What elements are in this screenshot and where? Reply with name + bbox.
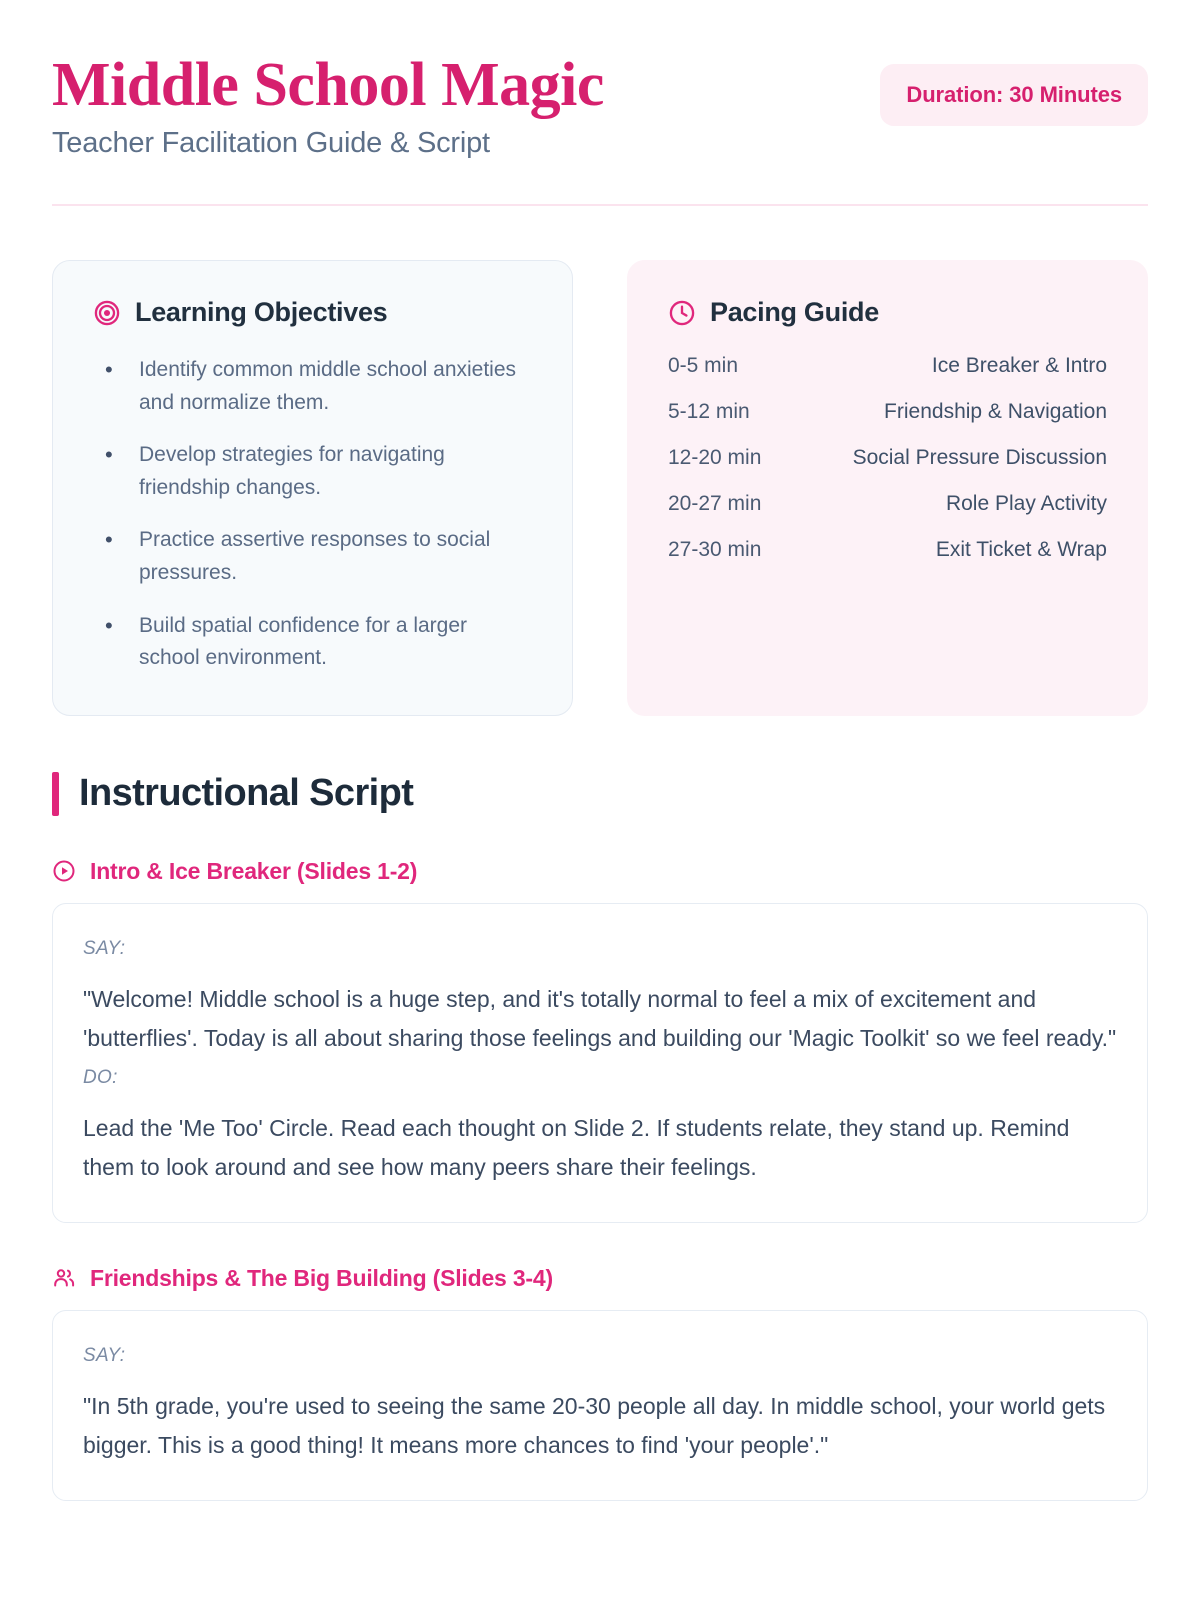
target-icon (93, 299, 121, 327)
cue-label: SAY: (83, 938, 1117, 960)
learning-objectives-card: Learning Objectives Identify common midd… (52, 260, 573, 715)
pacing-time: 20-27 min (668, 492, 761, 516)
cue-body: Lead the 'Me Too' Circle. Read each thou… (83, 1109, 1117, 1188)
script-section-title: Intro & Ice Breaker (Slides 1-2) (90, 858, 417, 885)
table-row: 0-5 min Ice Breaker & Intro (668, 354, 1107, 378)
pacing-time: 0-5 min (668, 354, 738, 378)
page-subtitle: Teacher Facilitation Guide & Script (52, 127, 604, 160)
pacing-activity: Role Play Activity (777, 492, 1107, 516)
cue-block-say: SAY: "Welcome! Middle school is a huge s… (83, 938, 1117, 1059)
section-title: Instructional Script (79, 772, 413, 815)
duration-badge: Duration: 30 Minutes (880, 64, 1148, 126)
info-cards-row: Learning Objectives Identify common midd… (52, 260, 1148, 715)
page-header: Middle School Magic Teacher Facilitation… (52, 48, 1148, 160)
list-item: Build spatial confidence for a larger sc… (93, 610, 532, 675)
script-section-title: Friendships & The Big Building (Slides 3… (90, 1265, 553, 1292)
learning-objectives-header: Learning Objectives (93, 297, 532, 328)
cue-block-do: DO: Lead the 'Me Too' Circle. Read each … (83, 1067, 1117, 1188)
title-block: Middle School Magic Teacher Facilitation… (52, 54, 604, 160)
pacing-time: 27-30 min (668, 538, 761, 562)
clock-icon (668, 299, 696, 327)
facilitation-guide-page: Middle School Magic Teacher Facilitation… (0, 0, 1200, 1600)
instructional-script-heading: Instructional Script (52, 772, 1148, 816)
list-item: Practice assertive responses to social p… (93, 524, 532, 589)
table-row: 27-30 min Exit Ticket & Wrap (668, 538, 1107, 562)
pacing-activity: Ice Breaker & Intro (754, 354, 1107, 378)
script-section-intro: Intro & Ice Breaker (Slides 1-2) SAY: "W… (52, 858, 1148, 1223)
script-box: SAY: "In 5th grade, you're used to seein… (52, 1310, 1148, 1501)
accent-bar (52, 772, 59, 816)
pacing-time: 5-12 min (668, 400, 750, 424)
cue-body: "Welcome! Middle school is a huge step, … (83, 980, 1117, 1059)
script-section-header: Intro & Ice Breaker (Slides 1-2) (52, 858, 1148, 885)
list-item: Identify common middle school anxieties … (93, 354, 532, 419)
table-row: 12-20 min Social Pressure Discussion (668, 446, 1107, 470)
cue-label: SAY: (83, 1345, 1117, 1367)
pacing-activity: Exit Ticket & Wrap (777, 538, 1107, 562)
learning-objectives-list: Identify common middle school anxieties … (93, 354, 532, 674)
pacing-activity: Friendship & Navigation (766, 400, 1107, 424)
script-box: SAY: "Welcome! Middle school is a huge s… (52, 903, 1148, 1223)
pacing-guide-card: Pacing Guide 0-5 min Ice Breaker & Intro… (627, 260, 1148, 715)
page-title: Middle School Magic (52, 54, 604, 117)
header-divider (52, 204, 1148, 206)
table-row: 5-12 min Friendship & Navigation (668, 400, 1107, 424)
table-row: 20-27 min Role Play Activity (668, 492, 1107, 516)
learning-objectives-title: Learning Objectives (135, 297, 387, 328)
list-item: Develop strategies for navigating friend… (93, 439, 532, 504)
pacing-activity: Social Pressure Discussion (777, 446, 1107, 470)
pacing-guide-title: Pacing Guide (710, 297, 879, 328)
play-circle-icon (52, 859, 76, 883)
cue-body: "In 5th grade, you're used to seeing the… (83, 1387, 1117, 1466)
cue-label: DO: (83, 1067, 1117, 1089)
users-icon (52, 1266, 76, 1290)
pacing-time: 12-20 min (668, 446, 761, 470)
pacing-guide-header: Pacing Guide (668, 297, 1107, 328)
cue-block-say: SAY: "In 5th grade, you're used to seein… (83, 1345, 1117, 1466)
script-section-header: Friendships & The Big Building (Slides 3… (52, 1265, 1148, 1292)
script-section-friendships: Friendships & The Big Building (Slides 3… (52, 1265, 1148, 1501)
